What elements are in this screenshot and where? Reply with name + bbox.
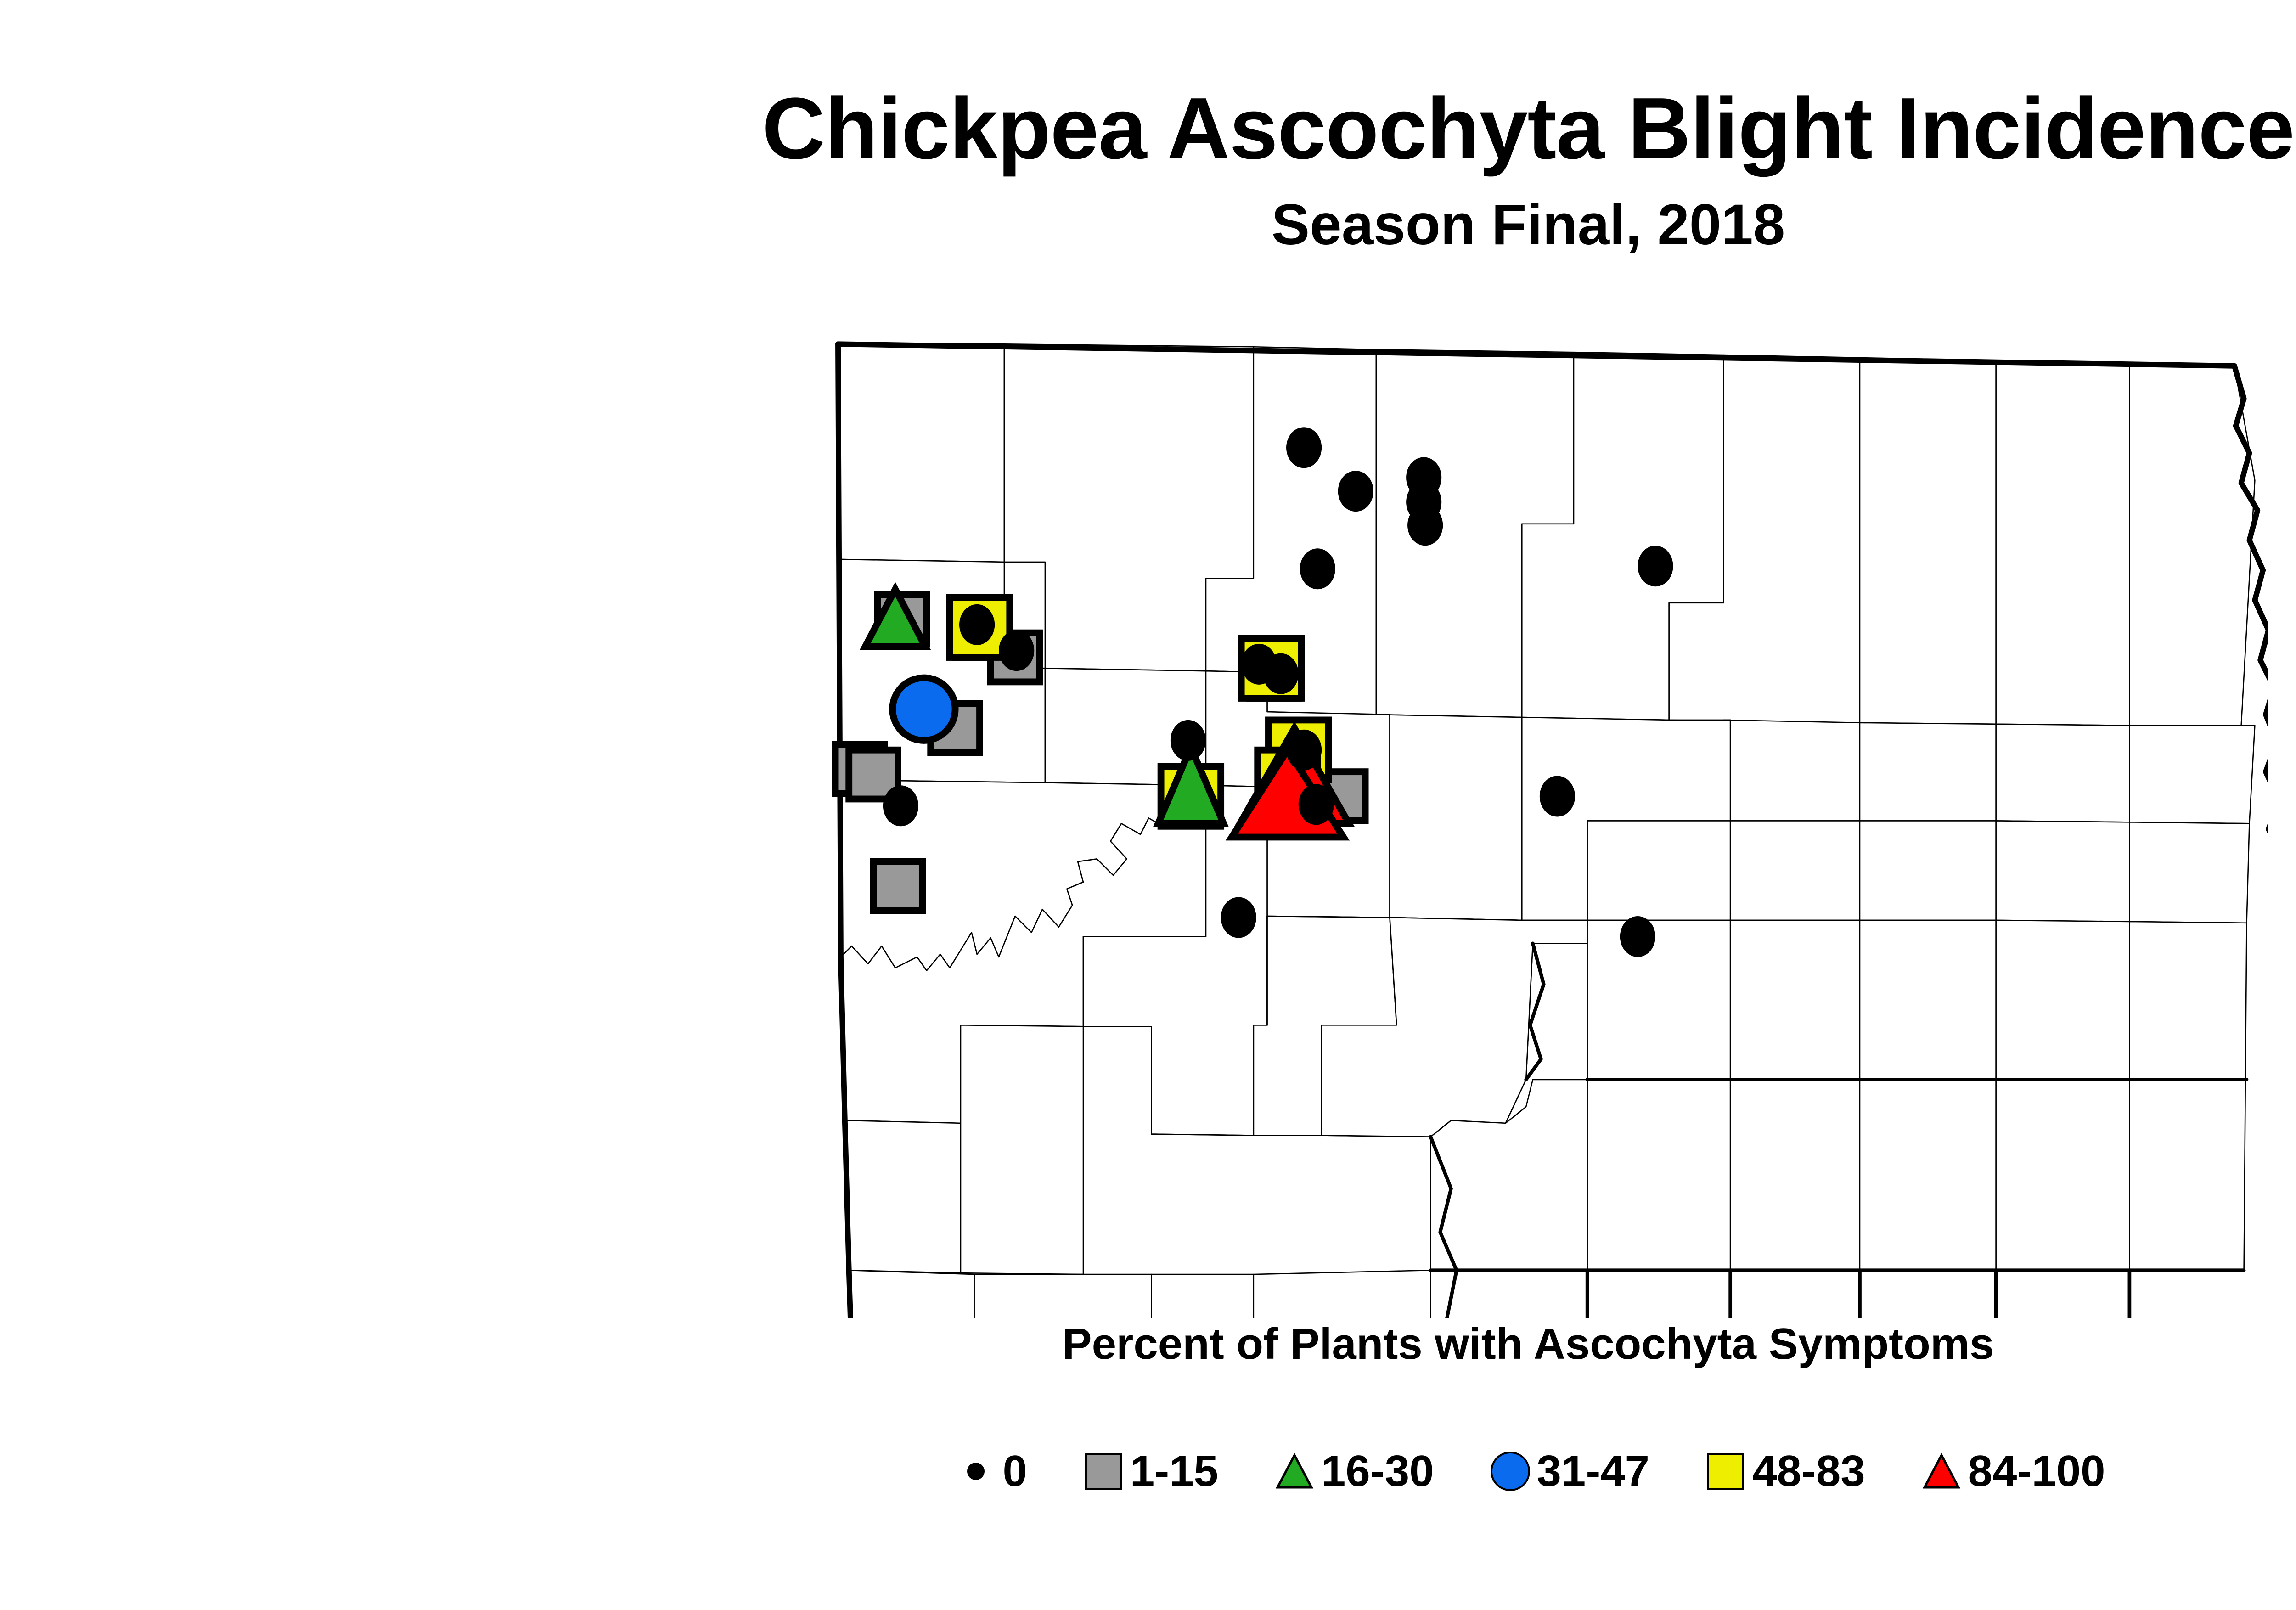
legend-item-label: 31-47	[1537, 1449, 1650, 1493]
legend: 01-1516-3031-4748-8384-100	[0, 1447, 2296, 1496]
marker-zero[interactable]	[1171, 720, 1206, 761]
legend-item-label: 48-83	[1752, 1449, 1865, 1493]
triangle-icon	[1922, 1452, 1961, 1491]
north-dakota-map[interactable]	[634, 317, 2268, 1318]
marker-1-15[interactable]	[873, 861, 923, 911]
legend-gap	[1649, 1471, 1701, 1472]
marker-zero[interactable]	[1540, 776, 1575, 817]
marker-31-47[interactable]	[893, 678, 955, 740]
title-block: Chickpea Ascochyta Blight Incidence Seas…	[0, 85, 2296, 253]
legend-gap	[1218, 1471, 1270, 1472]
legend-swatch-1-15	[1079, 1447, 1128, 1496]
legend-swatch-48-83	[1701, 1447, 1750, 1496]
legend-swatch-zero	[951, 1447, 1001, 1496]
map-svg	[634, 317, 2268, 1318]
legend-item-label: 84-100	[1968, 1449, 2105, 1493]
page-title: Chickpea Ascochyta Blight Incidence	[0, 85, 2296, 172]
marker-zero[interactable]	[1638, 546, 1673, 586]
marker-zero[interactable]	[1263, 653, 1299, 694]
marker-zero[interactable]	[1300, 548, 1335, 589]
marker-zero[interactable]	[999, 630, 1034, 671]
marker-zero[interactable]	[1286, 427, 1322, 468]
county-boundaries	[838, 344, 2255, 1318]
triangle-icon	[1275, 1452, 1314, 1491]
legend-gap	[1434, 1471, 1486, 1472]
legend-swatch-31-47	[1486, 1447, 1535, 1496]
marker-zero[interactable]	[1338, 471, 1373, 512]
legend-item-label: 1-15	[1130, 1449, 1218, 1493]
caption-block: Percent of Plants with Ascochyta Symptom…	[0, 1319, 2296, 1369]
marker-zero[interactable]	[1299, 784, 1334, 825]
legend-gap	[1865, 1471, 1917, 1472]
legend-item[interactable]: 1-15	[1079, 1447, 1218, 1496]
dot-icon	[967, 1463, 985, 1480]
legend-swatch-84-100	[1917, 1447, 1966, 1496]
legend-item[interactable]: 31-47	[1486, 1447, 1650, 1496]
legend-caption: Percent of Plants with Ascochyta Symptom…	[0, 1319, 2296, 1369]
marker-zero[interactable]	[959, 604, 995, 645]
page-subtitle: Season Final, 2018	[0, 172, 2296, 253]
poster-root: Chickpea Ascochyta Blight Incidence Seas…	[0, 0, 2296, 1610]
circle-icon	[1491, 1452, 1530, 1491]
legend-gap	[1027, 1471, 1079, 1472]
legend-swatch-16-30	[1270, 1447, 1319, 1496]
legend-item[interactable]: 84-100	[1917, 1447, 2105, 1496]
legend-item-label: 0	[1002, 1449, 1027, 1493]
legend-item[interactable]: 16-30	[1270, 1447, 1434, 1496]
square-icon	[1085, 1453, 1122, 1490]
marker-zero[interactable]	[1620, 916, 1655, 957]
marker-zero[interactable]	[1286, 730, 1322, 771]
marker-zero[interactable]	[883, 785, 918, 826]
legend-item-label: 16-30	[1321, 1449, 1434, 1493]
square-icon	[1707, 1453, 1744, 1490]
marker-zero[interactable]	[1407, 505, 1443, 546]
legend-item[interactable]: 0	[951, 1447, 1027, 1496]
marker-zero[interactable]	[1221, 897, 1256, 938]
legend-item[interactable]: 48-83	[1701, 1447, 1865, 1496]
